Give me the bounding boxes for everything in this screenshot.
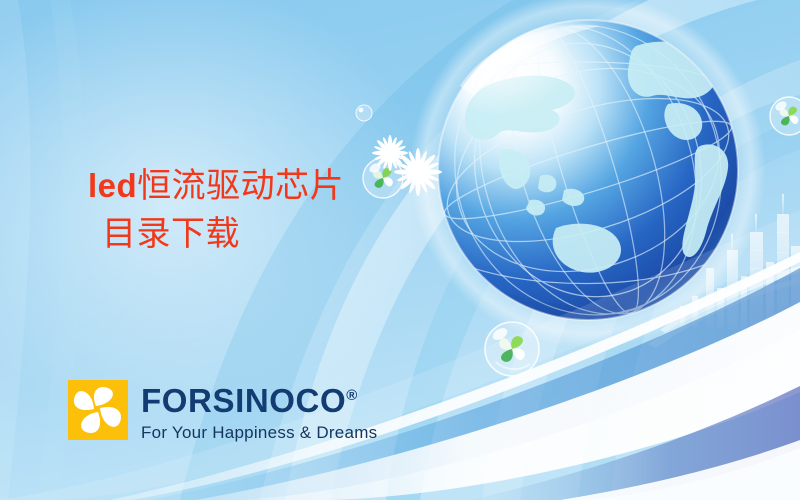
headline-line-1: led恒流驱动芯片 [88, 163, 344, 211]
headline-line-2: 目录下载 [88, 211, 344, 259]
bubble-pinwheel-low [485, 322, 539, 376]
sparkle-star-right [394, 148, 442, 196]
brand-wordmark: FORSINOCO® For Your Happiness & Dreams [141, 380, 377, 441]
brand-logo-lockup: FORSINOCO® For Your Happiness & Dreams [68, 380, 377, 441]
promo-banner: led恒流驱动芯片 目录下载 FORSINOCO® For Your Happi… [0, 0, 800, 500]
headline-latin: led [88, 167, 137, 204]
headline-cjk: 恒流驱动芯片 [137, 168, 344, 205]
forsinoco-pinwheel-logo-icon [68, 380, 128, 440]
bubble-pinwheel-mid [363, 158, 403, 198]
bubble-pinwheel-right [770, 97, 800, 135]
headline-text: led恒流驱动芯片 目录下载 [88, 163, 344, 260]
brand-name-text: FORSINOCO [141, 382, 346, 419]
brand-name: FORSINOCO® [141, 384, 377, 417]
bubble-small-top [356, 105, 372, 121]
registered-trademark-symbol: ® [346, 387, 357, 404]
brand-tagline: For Your Happiness & Dreams [141, 424, 377, 441]
